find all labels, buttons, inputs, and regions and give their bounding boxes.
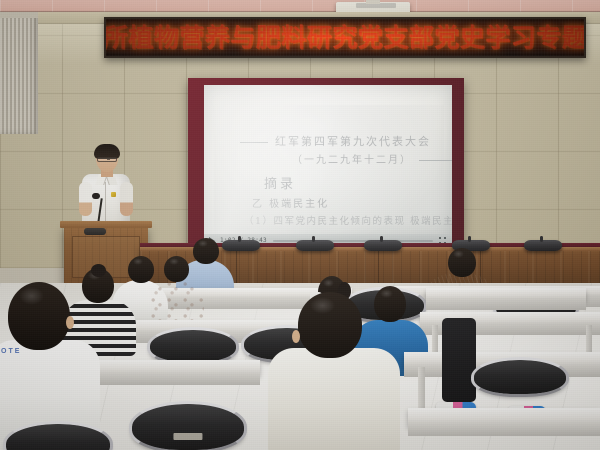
speaker-left-arm (79, 182, 92, 216)
podium-microphone-base (84, 228, 106, 235)
glasses-icon (97, 157, 117, 162)
projection-screen-frame: 红军第四军第九次代表大会 （一九二九年十二月） 摘录 乙 极端民主化 （1）四军… (188, 78, 464, 253)
podium-microphone-head (92, 193, 100, 199)
tshirt-collar-text: HOTE (0, 348, 21, 355)
speaker-right-arm (120, 182, 133, 216)
desk-row-4-right (408, 408, 600, 426)
mic-unit-2 (296, 240, 334, 251)
speaker-shirt-placket (105, 182, 106, 222)
mic-unit-5 (524, 240, 562, 251)
seat-number-tag (173, 433, 202, 440)
chair-row3-a[interactable] (150, 330, 236, 362)
rostrum-seam (378, 251, 379, 287)
chair-row3-c[interactable] (474, 360, 566, 394)
wall-louvre-panel (0, 12, 38, 134)
speaker-presenter (82, 146, 130, 232)
wall-louvre-cap (0, 12, 38, 18)
led-banner-text: 资环所植物营养与肥料研究党支部党史学习专题会议 (104, 25, 586, 50)
podium-top-surface (60, 221, 152, 228)
chair-row4-b[interactable] (6, 424, 110, 450)
meeting-room-photograph: 资环所植物营养与肥料研究党支部党史学习专题会议 红军第四军第九次代表大会 （一九… (0, 0, 600, 450)
attendee-cream-shirt-front-right (268, 292, 400, 450)
attendee-floral-blouse (150, 256, 204, 318)
projector-ceiling-mount (366, 0, 380, 4)
projection-screen: 红军第四军第九次代表大会 （一九二九年十二月） 摘录 乙 极端民主化 （1）四军… (204, 85, 452, 247)
desk-row-4-far (426, 288, 586, 300)
speaker-badge-pin (111, 192, 116, 197)
chair-row4-a[interactable] (132, 404, 244, 450)
mic-unit-3 (364, 240, 402, 251)
rostrum-seam (236, 251, 237, 287)
led-banner: 资环所植物营养与肥料研究党支部党史学习专题会议 (104, 17, 586, 58)
